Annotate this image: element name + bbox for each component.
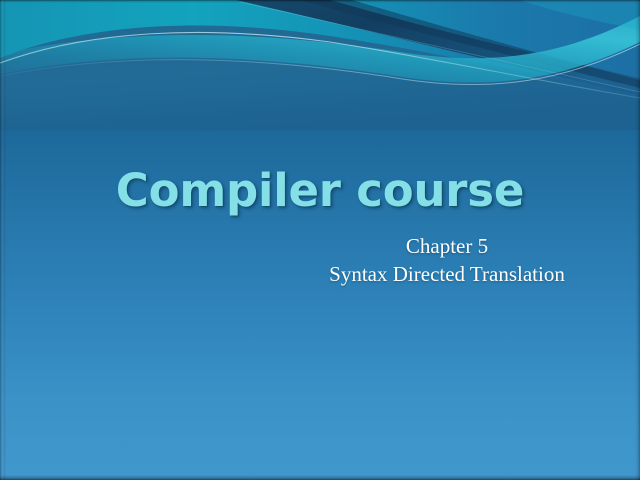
slide-edge-right [635,0,640,480]
page-title: Compiler course [52,166,588,216]
title-slide: Compiler course Chapter 5 Syntax Directe… [0,0,640,480]
subtitle-line-chapter: Chapter 5 [107,232,640,260]
slide-text-block: Compiler course Chapter 5 Syntax Directe… [0,0,640,480]
slide-subtitle: Chapter 5 Syntax Directed Translation [107,232,640,288]
slide-edge-bottom [0,475,640,480]
slide-edge-left [0,0,6,480]
slide-edge-top [0,0,640,3]
subtitle-line-topic: Syntax Directed Translation [107,260,640,288]
